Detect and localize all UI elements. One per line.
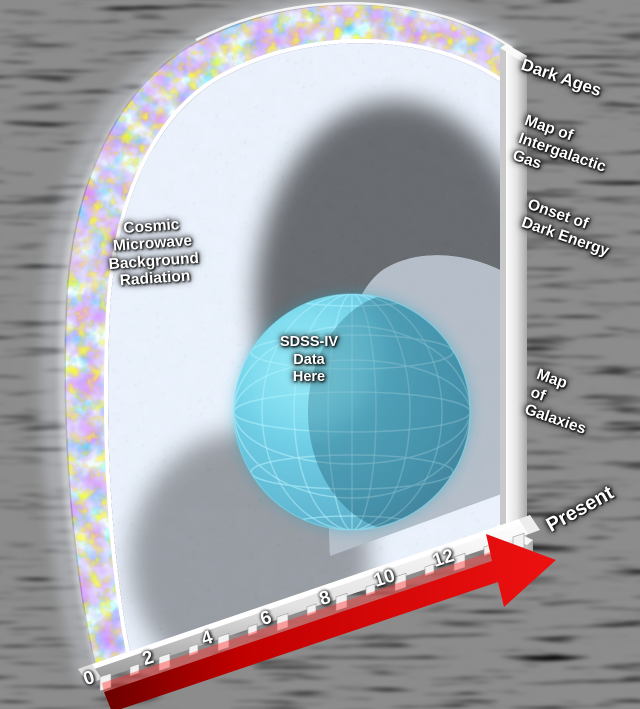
cosmic-timeline-figure: Cosmic Microwave Background Radiation SD… bbox=[0, 0, 640, 709]
timeline-graphic bbox=[0, 0, 640, 709]
